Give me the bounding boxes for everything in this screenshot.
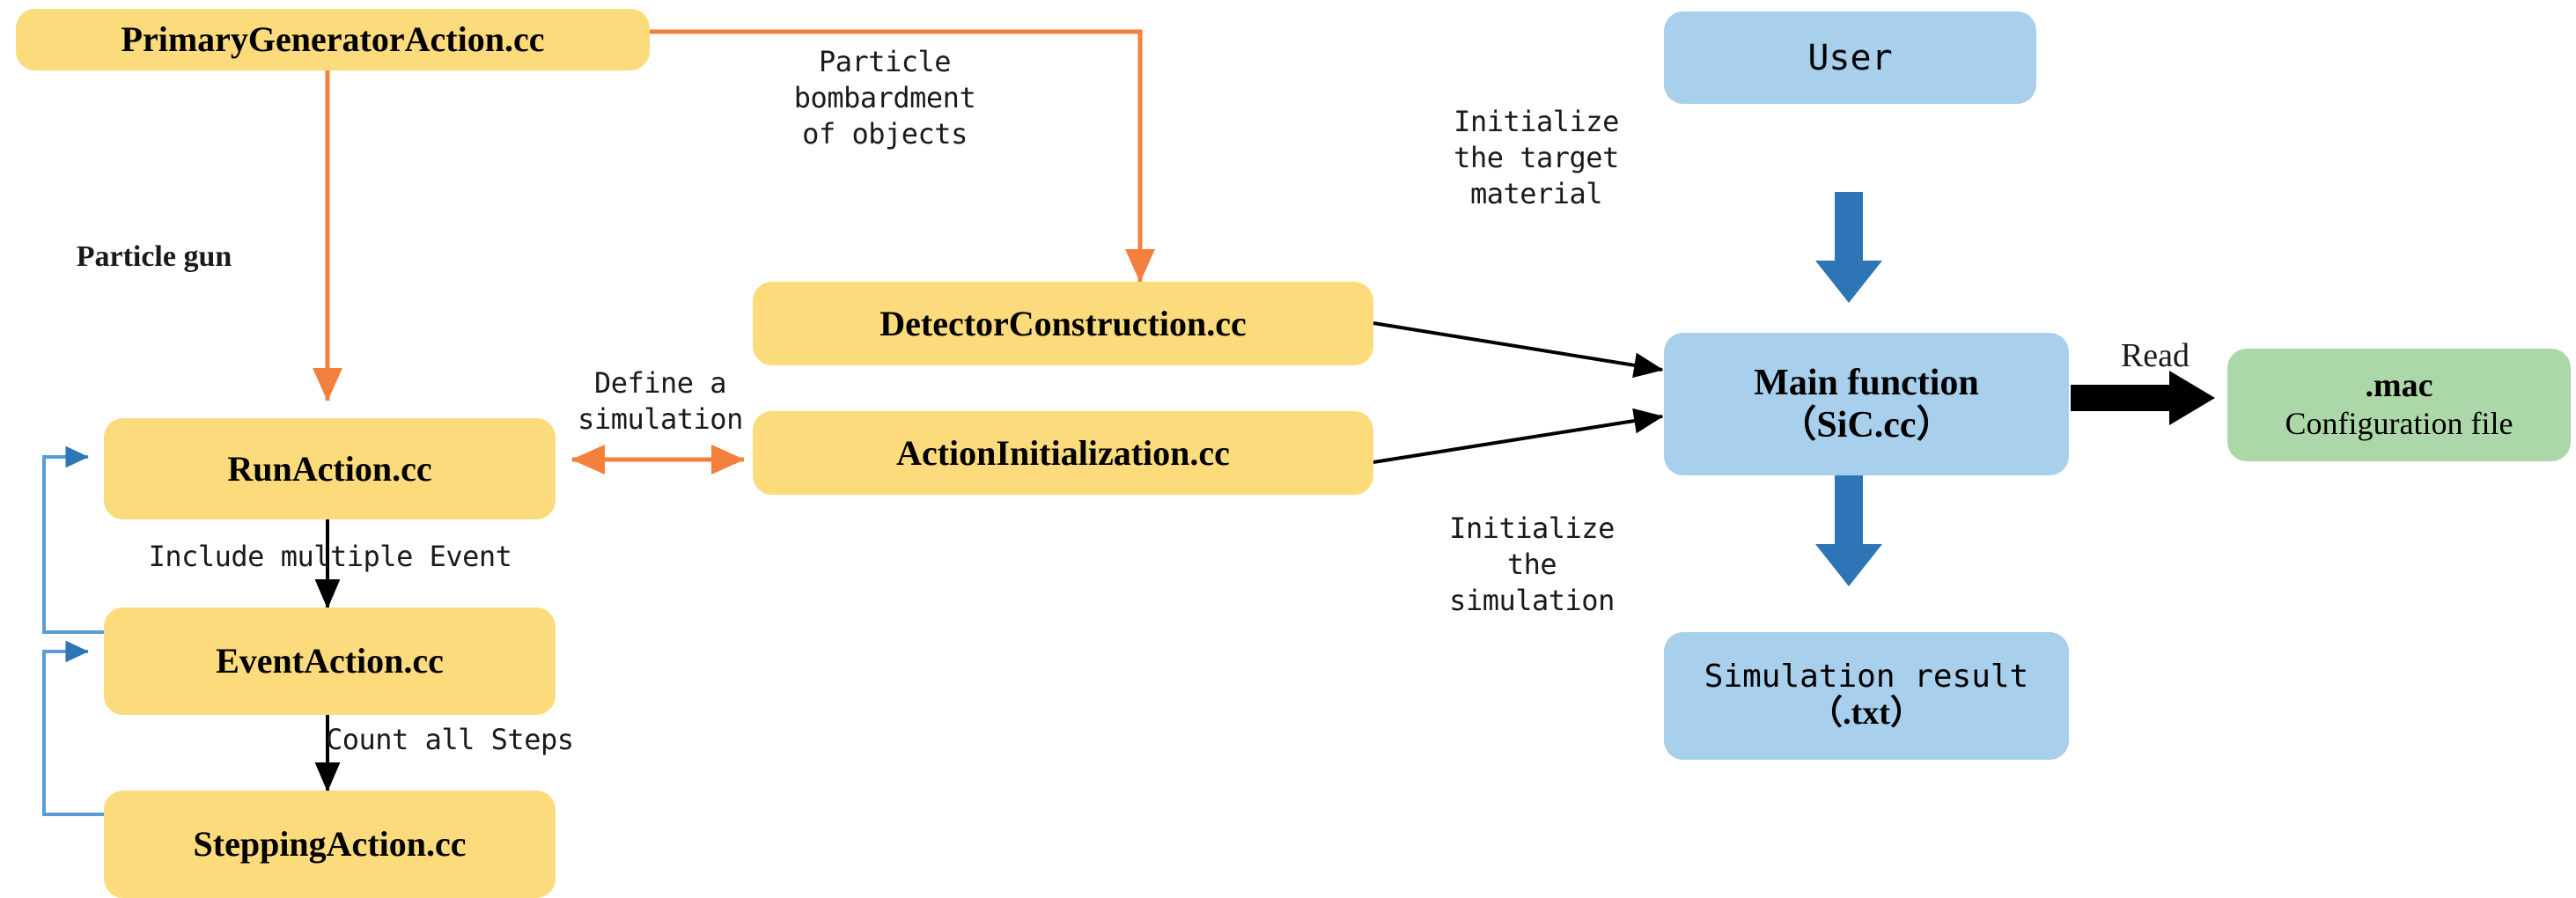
edge-label-text: Include multiple Event [149, 540, 512, 573]
edge-label-text: Read [2121, 337, 2190, 374]
edge-eventaction-loop-to-runaction [44, 457, 104, 632]
node-label: ActionInitialization.cc [753, 433, 1373, 474]
node-main-function[interactable]: Main function （SiC.cc） [1664, 333, 2069, 475]
edge-label-include-multiple-event: Include multiple Event [141, 539, 519, 575]
edge-steppingaction-loop-to-eventaction [44, 651, 104, 814]
edge-label-line1: Initialize [1404, 511, 1660, 547]
node-label: RunAction.cc [104, 449, 556, 489]
edge-label-line1: Particle [775, 44, 995, 80]
edge-label-define-a-simulation: Define a simulation [555, 365, 766, 438]
node-simulation-result[interactable]: Simulation result （.txt） [1664, 632, 2069, 760]
edge-label-line3: simulation [1404, 583, 1660, 619]
edge-label-line2: the [1404, 547, 1660, 583]
node-label-line2: （SiC.cc） [1664, 404, 2069, 446]
edge-label-line3: of objects [775, 116, 995, 152]
node-event-action[interactable]: EventAction.cc [104, 607, 556, 715]
node-label-line2: Configuration file [2227, 406, 2571, 442]
edge-label-read: Read [2085, 335, 2226, 378]
edge-user-to-main [1815, 192, 1882, 303]
node-user[interactable]: User [1664, 11, 2036, 104]
node-label: EventAction.cc [104, 641, 556, 681]
edge-label-particle-bombardment: Particle bombardment of objects [775, 44, 995, 152]
edge-label-line1: Define a [555, 365, 766, 401]
edge-label-initialize-target-material: Initialize the target material [1409, 104, 1664, 212]
edge-actioninit-to-main [1373, 416, 1662, 462]
node-label: PrimaryGeneratorAction.cc [16, 19, 650, 60]
node-label: User [1664, 38, 2036, 78]
flowchart-canvas: PrimaryGeneratorAction.cc RunAction.cc E… [0, 0, 2576, 876]
node-label: DetectorConstruction.cc [753, 304, 1373, 344]
edge-label-text: Count all Steps [326, 723, 573, 756]
edge-label-text: Particle gun [77, 240, 232, 273]
edge-detector-to-main [1373, 323, 1662, 370]
edge-label-line3: material [1409, 176, 1664, 212]
edge-label-line1: Initialize [1409, 104, 1664, 140]
node-action-initialization[interactable]: ActionInitialization.cc [753, 411, 1373, 495]
node-label-line2: （.txt） [1664, 695, 2069, 733]
node-label: SteppingAction.cc [104, 824, 556, 865]
edge-label-count-all-steps: Count all Steps [326, 722, 625, 758]
node-stepping-action[interactable]: SteppingAction.cc [104, 791, 556, 898]
edge-label-initialize-the-simulation: Initialize the simulation [1404, 511, 1660, 619]
edge-label-line2: the target [1409, 140, 1664, 176]
node-label-line1: Simulation result [1664, 659, 2069, 695]
edge-main-to-mac [2071, 371, 2215, 425]
node-label-line1: .mac [2227, 367, 2571, 406]
node-mac-config[interactable]: .mac Configuration file [2227, 349, 2571, 461]
edge-main-to-result [1815, 475, 1882, 586]
edge-label-line2: simulation [555, 401, 766, 438]
node-detector-construction[interactable]: DetectorConstruction.cc [753, 282, 1373, 365]
node-label-line1: Main function [1664, 362, 2069, 404]
node-primary-generator-action[interactable]: PrimaryGeneratorAction.cc [16, 9, 650, 70]
edge-label-particle-gun: Particle gun [26, 238, 282, 276]
node-run-action[interactable]: RunAction.cc [104, 418, 556, 519]
edge-label-line2: bombardment [775, 80, 995, 116]
